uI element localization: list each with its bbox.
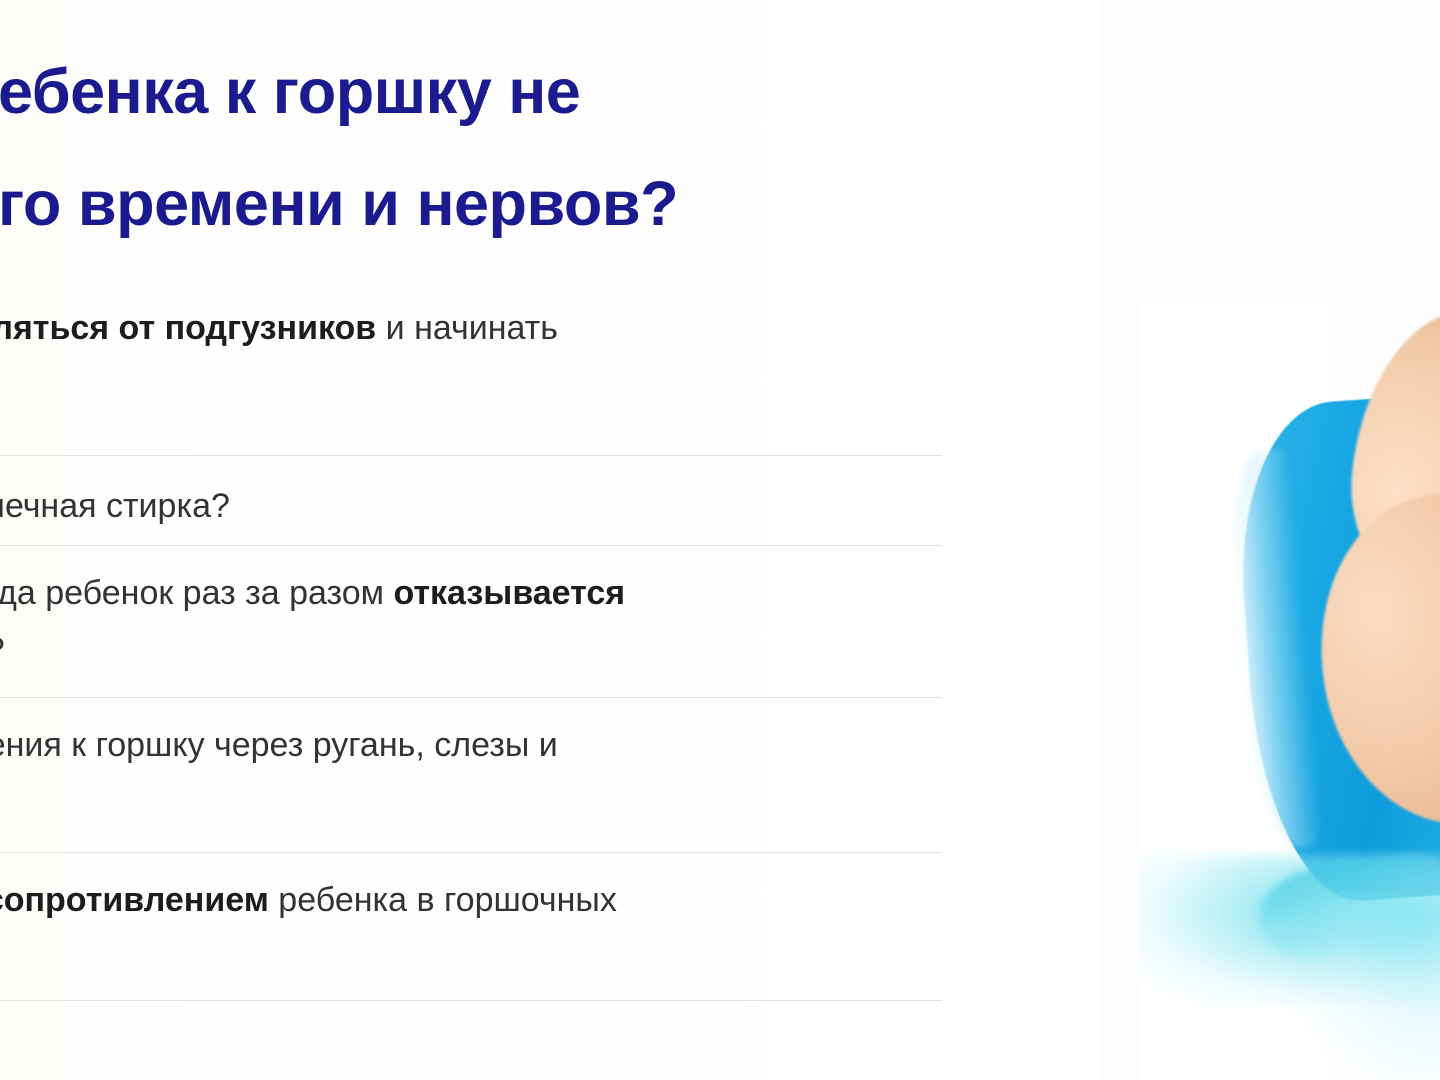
intro-regular: и начинать [376,309,558,347]
list-item-bold: сопротивлением [0,881,269,919]
corner-blue-wash [1290,900,1440,1080]
separator-1 [0,455,942,456]
list-item-line: учения к горшку через ругань, слезы и [0,717,962,774]
headline-line-2: ого времени и нервов? [0,148,960,260]
list-item-text: учения к горшку через ругань, слезы и [0,726,558,764]
list-item-line: когда ребенок раз за разом отказывается [0,565,962,622]
list-item-line: ок? [0,622,962,679]
potty-reflection [1140,855,1440,1005]
baby-thigh [1295,479,1440,844]
page-title: ребенка к горшку не ого времени и нервов… [0,36,960,260]
separator-5 [0,1000,942,1001]
list-item: конечная стирка? [0,478,962,535]
separator-4 [0,852,942,853]
separator-2 [0,545,942,546]
list-item-line: м сопротивлением ребенка в горшочных [0,872,962,929]
child-on-potty-photo [1140,300,1440,1080]
list-item: м сопротивлением ребенка в горшочных [0,872,962,929]
potty-reflection-highlight [1256,850,1440,964]
intro-paragraph: авляться от подгузников и начинать [0,300,962,357]
baby-back [1339,300,1440,620]
photo-backdrop [1140,300,1440,1080]
list-item: учения к горшку через ругань, слезы и [0,717,962,774]
list-item-bold: отказывается [393,574,625,612]
intro-bold: авляться от подгузников [0,309,376,347]
headline-line-1: ребенка к горшку не [0,36,960,148]
intro-line: авляться от подгузников и начинать [0,300,962,357]
list-item-tail: ребенка в горшочных [269,881,617,919]
list-item-text: когда ребенок раз за разом [0,574,393,612]
page-canvas: ребенка к горшку не ого времени и нервов… [0,0,1440,1080]
separator-3 [0,697,942,698]
list-item-line: конечная стирка? [0,478,962,535]
blue-potty [1231,393,1440,908]
list-item-text: ок? [0,631,5,669]
list-item: когда ребенок раз за разом отказывается … [0,565,962,679]
potty-rim-highlight [1219,448,1324,853]
list-item-text: конечная стирка? [0,487,230,525]
